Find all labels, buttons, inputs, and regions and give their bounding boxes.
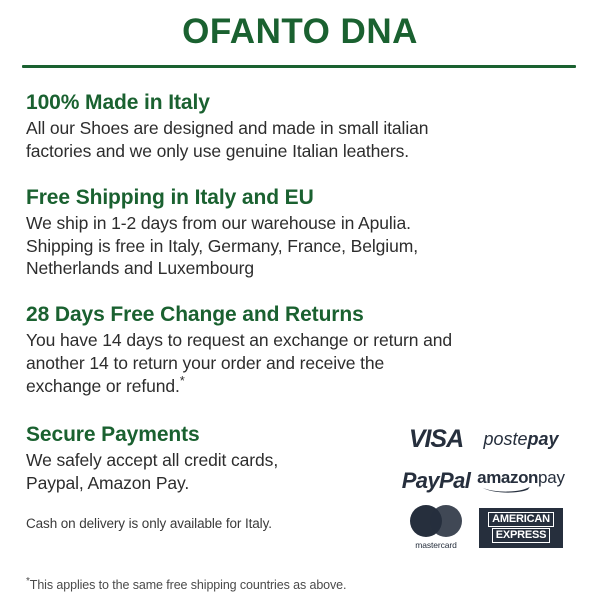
section-free-shipping: Free Shipping in Italy and EU We ship in…: [26, 185, 578, 280]
section-heading: Free Shipping in Italy and EU: [26, 185, 578, 210]
amazon-pay-logo: amazonpay: [476, 460, 566, 502]
cash-on-delivery-note: Cash on delivery is only available for I…: [26, 516, 278, 531]
body-line: We ship in 1-2 days from our warehouse i…: [26, 212, 578, 235]
section-heading: 28 Days Free Change and Returns: [26, 302, 578, 327]
amazon-smile-icon: [478, 486, 536, 493]
body-line: All our Shoes are designed and made in s…: [26, 117, 578, 140]
payment-logos-grid: VISA postepay PayPal amazonpay: [396, 420, 566, 554]
section-body: All our Shoes are designed and made in s…: [26, 117, 578, 163]
amazon-pay-wordmark: amazonpay: [477, 468, 565, 493]
postepay-logo: postepay: [476, 420, 566, 460]
section-heading: 100% Made in Italy: [26, 90, 578, 115]
section-body: We ship in 1-2 days from our warehouse i…: [26, 212, 578, 280]
amex-line-1: AMERICAN: [488, 512, 554, 527]
asterisk-marker: *: [180, 373, 185, 388]
amazon-part-light: pay: [538, 468, 565, 487]
body-line: You have 14 days to request an exchange …: [26, 329, 578, 352]
section-body: We safely accept all credit cards, Paypa…: [26, 449, 278, 495]
body-line: We safely accept all credit cards,: [26, 449, 278, 472]
body-line: Netherlands and Luxembourg: [26, 257, 578, 280]
section-body: You have 14 days to request an exchange …: [26, 329, 578, 397]
page-title: OFANTO DNA: [0, 14, 600, 49]
postepay-part-bold: pay: [528, 429, 559, 449]
ofanto-dna-info-panel: OFANTO DNA 100% Made in Italy All our Sh…: [0, 0, 600, 600]
body-line: Shipping is free in Italy, Germany, Fran…: [26, 235, 578, 258]
section-made-in-italy: 100% Made in Italy All our Shoes are des…: [26, 90, 578, 163]
postepay-part-light: poste: [483, 429, 527, 449]
amex-line-2: EXPRESS: [492, 528, 551, 543]
body-line: exchange or refund.*: [26, 375, 578, 398]
body-line: another 14 to return your order and rece…: [26, 352, 578, 375]
mastercard-circle-right: [430, 505, 462, 537]
footnote-text: This applies to the same free shipping c…: [30, 578, 347, 592]
footnote: *This applies to the same free shipping …: [26, 578, 346, 592]
mastercard-wordmark: mastercard: [415, 540, 457, 550]
amazon-part-bold: amazon: [477, 468, 538, 487]
american-express-logo: AMERICAN EXPRESS: [476, 502, 566, 554]
mastercard-circles-icon: [410, 505, 462, 537]
mastercard-logo: mastercard: [396, 502, 476, 554]
secure-payments-text: Secure Payments We safely accept all cre…: [26, 422, 278, 532]
visa-wordmark: VISA: [409, 425, 463, 454]
title-divider: [22, 65, 576, 68]
postepay-wordmark: postepay: [483, 429, 558, 450]
mastercard-mark: mastercard: [410, 505, 462, 550]
body-line: Paypal, Amazon Pay.: [26, 472, 278, 495]
title-block: OFANTO DNA: [0, 0, 600, 68]
amex-mark: AMERICAN EXPRESS: [479, 508, 563, 548]
section-free-change-returns: 28 Days Free Change and Returns You have…: [26, 302, 578, 397]
paypal-logo: PayPal: [396, 460, 476, 502]
section-heading: Secure Payments: [26, 422, 278, 447]
section-secure-payments: Secure Payments We safely accept all cre…: [26, 422, 578, 554]
paypal-wordmark: PayPal: [402, 468, 471, 494]
visa-logo: VISA: [396, 420, 476, 460]
sections-container: 100% Made in Italy All our Shoes are des…: [0, 90, 600, 554]
body-line: factories and we only use genuine Italia…: [26, 140, 578, 163]
body-line-text: exchange or refund.: [26, 376, 180, 396]
